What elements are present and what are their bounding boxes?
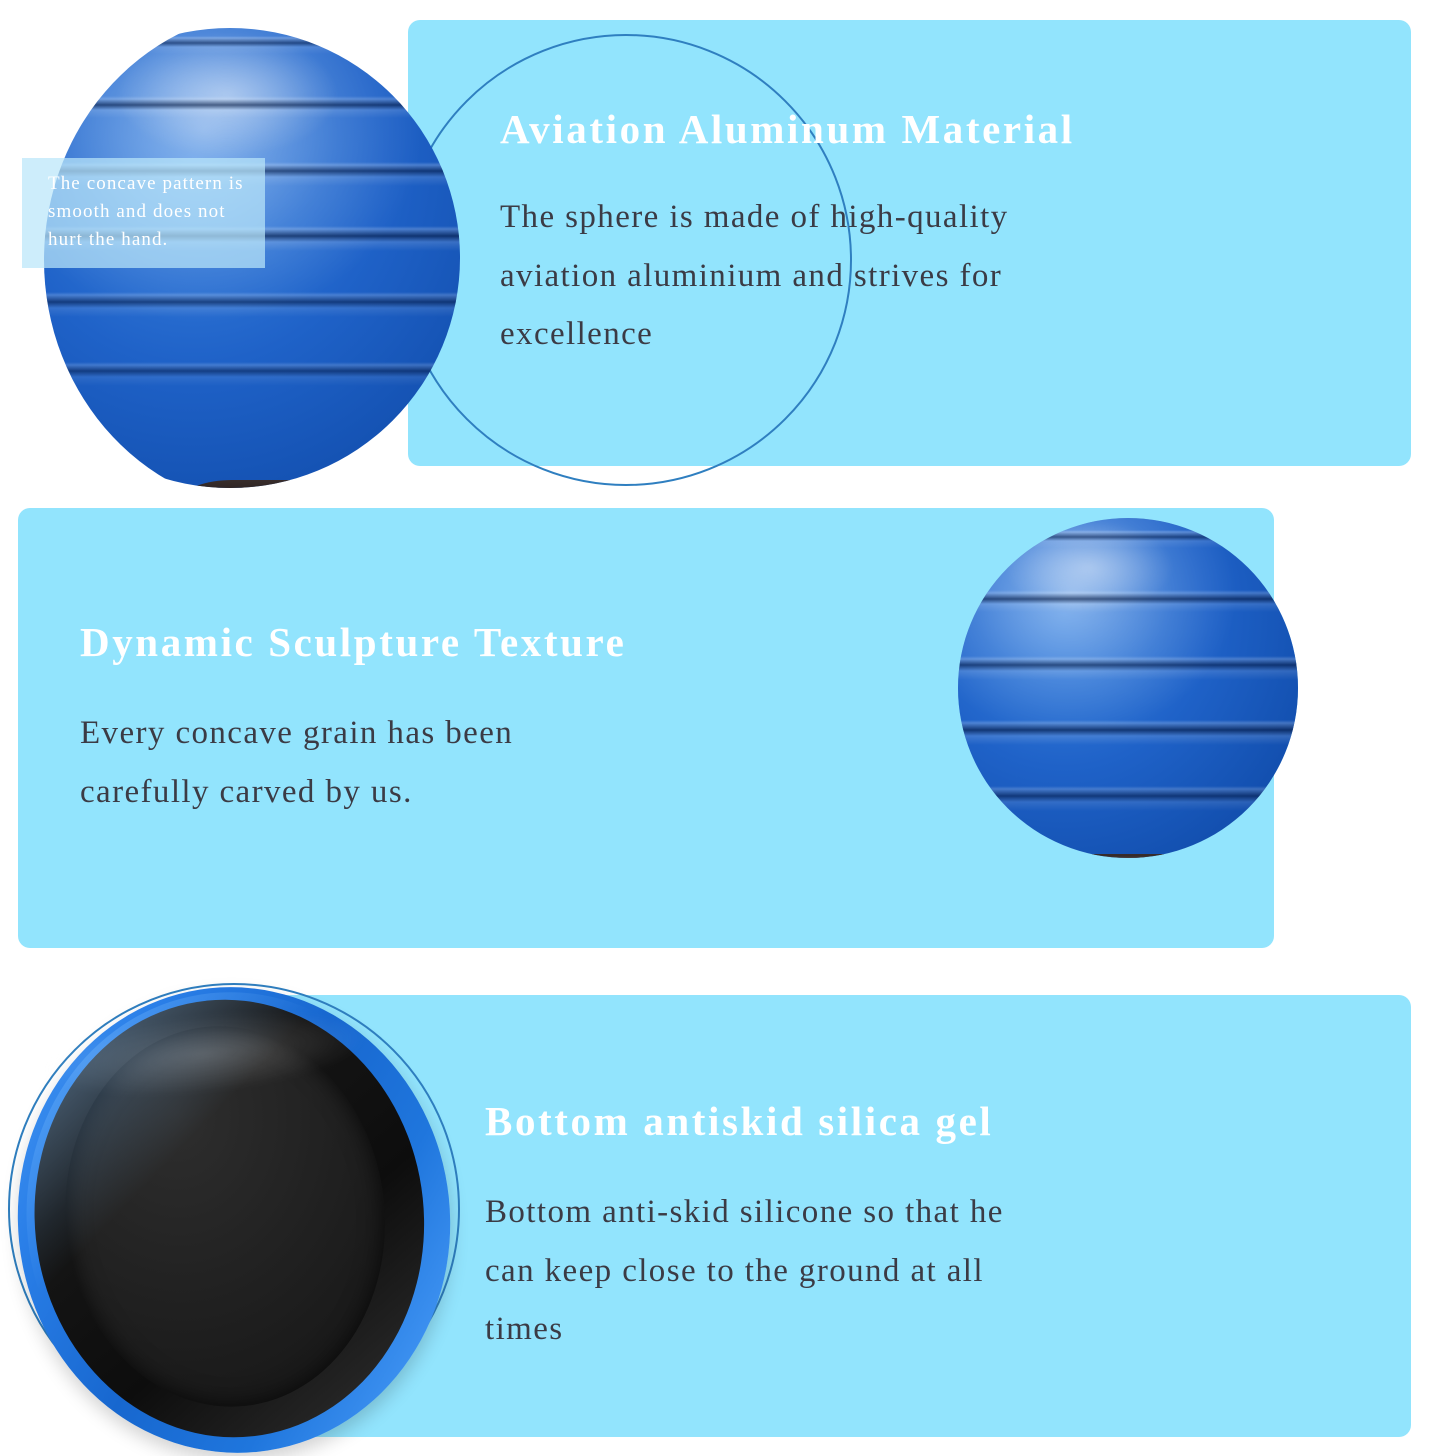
feature-panel-bottom-antiskid-silica-gel: Bottom antiskid silica gel Bottom anti-s…: [188, 995, 1411, 1437]
panel-body-aviation-aluminum-material: The sphere is made of high-quality aviat…: [500, 188, 1330, 364]
feature-panel-dynamic-sculpture-texture: Dynamic Sculpture Texture Every concave …: [18, 508, 1274, 948]
product-feature-infographic: The concave pattern is smooth and does n…: [0, 0, 1433, 1456]
ball-highlight-2: [1007, 523, 1171, 612]
ball-base-shadow-1: [185, 480, 373, 488]
panel-title-aviation-aluminum-material: Aviation Aluminum Material: [500, 105, 1075, 153]
ball-highlight-1: [119, 35, 335, 155]
bottom-silicone-pad-photo: [0, 966, 473, 1456]
panel-title-bottom-antiskid-silica-gel: Bottom antiskid silica gel: [485, 1097, 993, 1145]
panel-body-dynamic-sculpture-texture: Every concave grain has been carefully c…: [80, 704, 840, 821]
ball-base-shadow-2: [1057, 854, 1199, 858]
antiskid-silicone-pad: [47, 1010, 404, 1422]
ball-blue-rim: [0, 966, 473, 1456]
aluminum-ball-render-2: [958, 518, 1298, 858]
panel-body-bottom-antiskid-silica-gel: Bottom anti-skid silicone so that he can…: [485, 1183, 1295, 1359]
feature-panel-aviation-aluminum-material: The concave pattern is smooth and does n…: [408, 20, 1411, 466]
silicone-bezel-ring: [13, 980, 445, 1456]
panel-title-dynamic-sculpture-texture: Dynamic Sculpture Texture: [80, 618, 626, 666]
image-caption-concave-pattern: The concave pattern is smooth and does n…: [22, 158, 265, 268]
blue-grooved-aluminum-ball-photo-2: [958, 518, 1298, 858]
